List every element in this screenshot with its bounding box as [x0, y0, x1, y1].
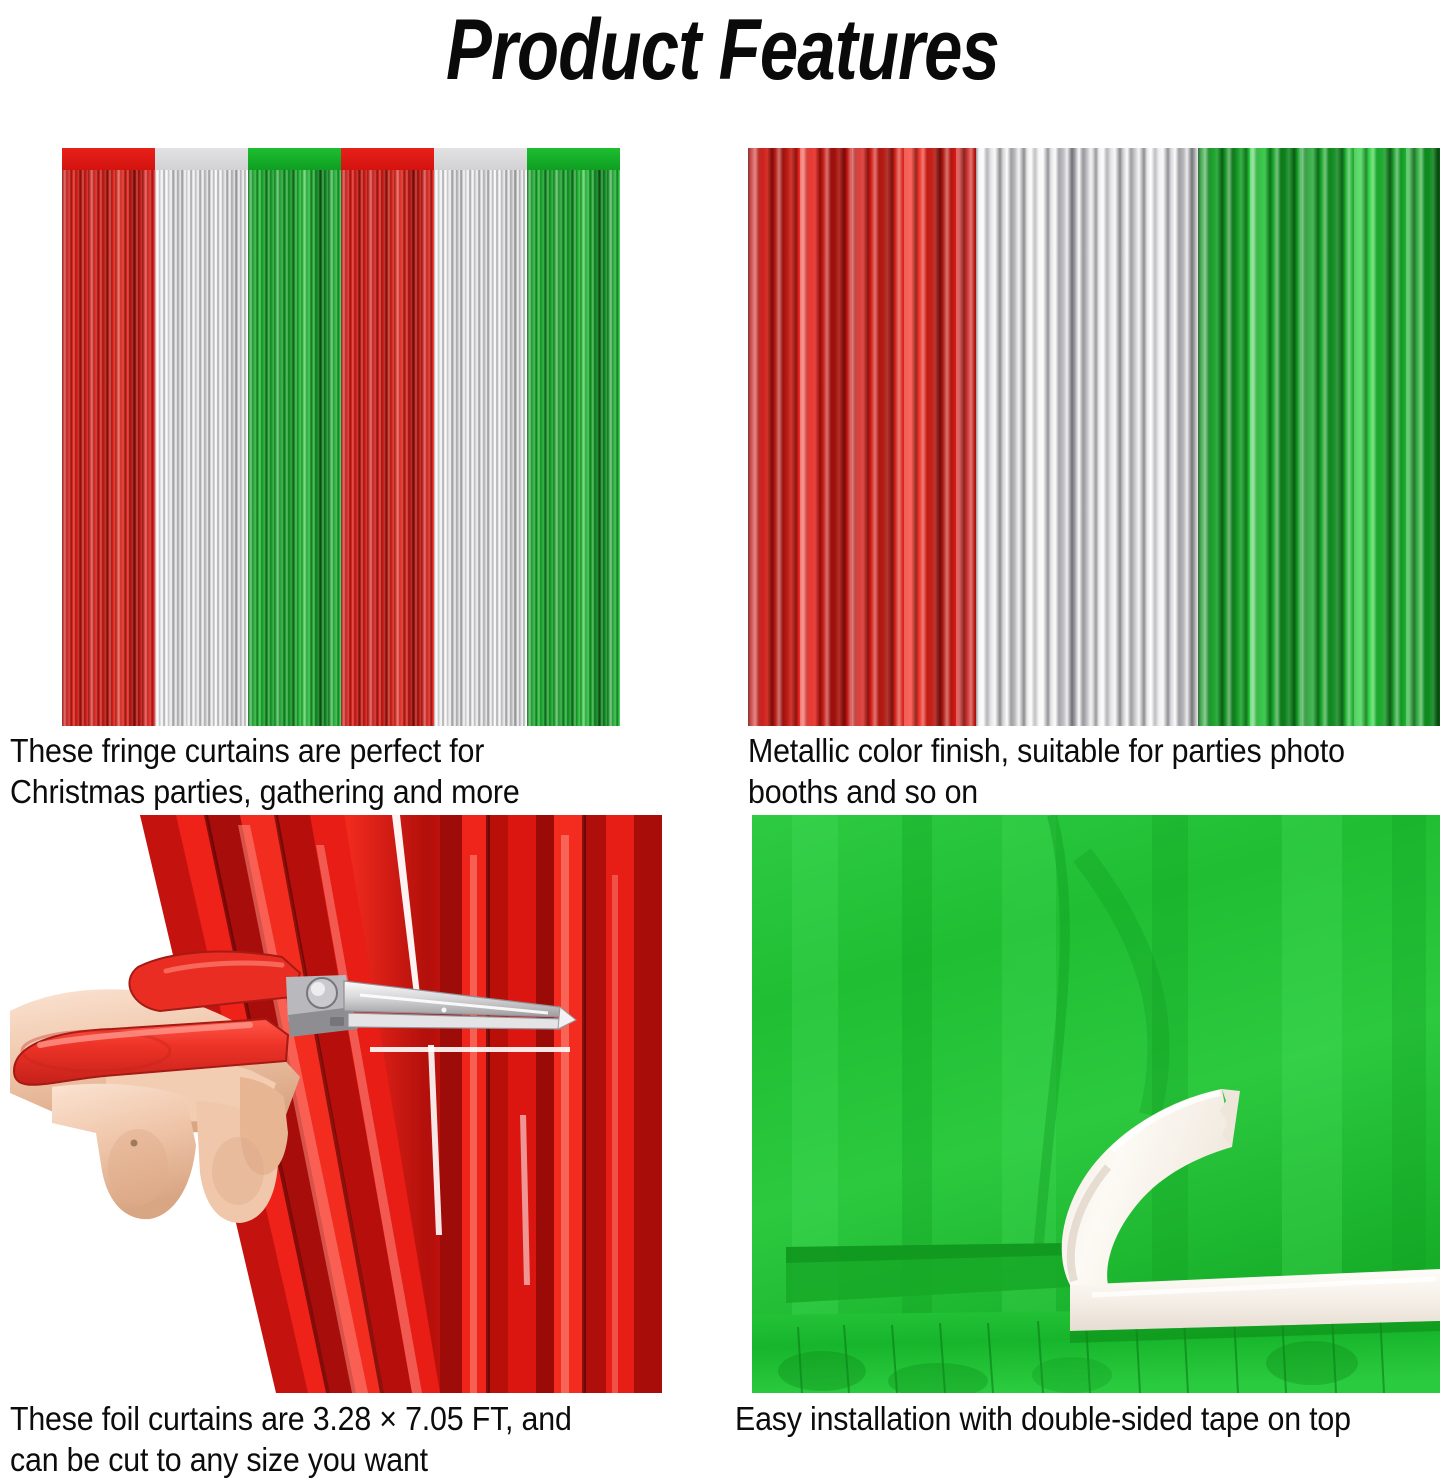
closeup-stripe-green — [1198, 148, 1440, 726]
cut-slit — [370, 1047, 570, 1052]
stripe-header-band — [434, 148, 527, 170]
stripe-header-band — [341, 148, 434, 170]
scissors-scene — [0, 815, 662, 1393]
closeup-stripe-red — [748, 148, 976, 726]
caption-scissors-cutting-fringe: These foil curtains are 3.28 × 7.05 FT, … — [10, 1399, 626, 1481]
caption-fringe-curtain-full-view: These fringe curtains are perfect for Ch… — [10, 731, 617, 813]
stripe-header-band — [527, 148, 620, 170]
fringe-stripe-red-1 — [62, 148, 155, 726]
fringe-stripe-green-2 — [527, 148, 620, 726]
fringe-stripe-green-1 — [248, 148, 341, 726]
green-foil-texture — [248, 148, 341, 726]
fringe-stripe-row — [62, 148, 620, 726]
scissors-cutting-illustration — [0, 815, 662, 1393]
stripe-header-band — [155, 148, 248, 170]
product-image-double-sided-tape-peel — [752, 815, 1440, 1393]
fringe-stripe-silver-1 — [155, 148, 248, 726]
closeup-stripe-silver — [976, 148, 1197, 726]
silver-foil-texture — [155, 148, 248, 726]
stripe-header-band — [248, 148, 341, 170]
fringe-stripe-silver-2 — [434, 148, 527, 726]
page-title: Product Features — [145, 4, 1301, 97]
stripe-header-band — [62, 148, 155, 170]
product-image-metallic-finish-closeup — [748, 148, 1440, 726]
caption-metallic-finish-closeup: Metallic color finish, suitable for part… — [748, 731, 1392, 813]
product-image-fringe-curtain-full-view — [62, 148, 620, 726]
green-foil-texture — [527, 148, 620, 726]
product-image-scissors-cutting-fringe — [0, 815, 662, 1393]
red-foil-texture — [341, 148, 434, 726]
tape-peel-illustration — [752, 815, 1440, 1393]
fringe-stripe-red-2 — [341, 148, 434, 726]
caption-double-sided-tape-peel: Easy installation with double-sided tape… — [735, 1399, 1393, 1440]
silver-foil-texture — [434, 148, 527, 726]
closeup-stripe-row — [748, 148, 1440, 726]
red-foil-texture — [62, 148, 155, 726]
